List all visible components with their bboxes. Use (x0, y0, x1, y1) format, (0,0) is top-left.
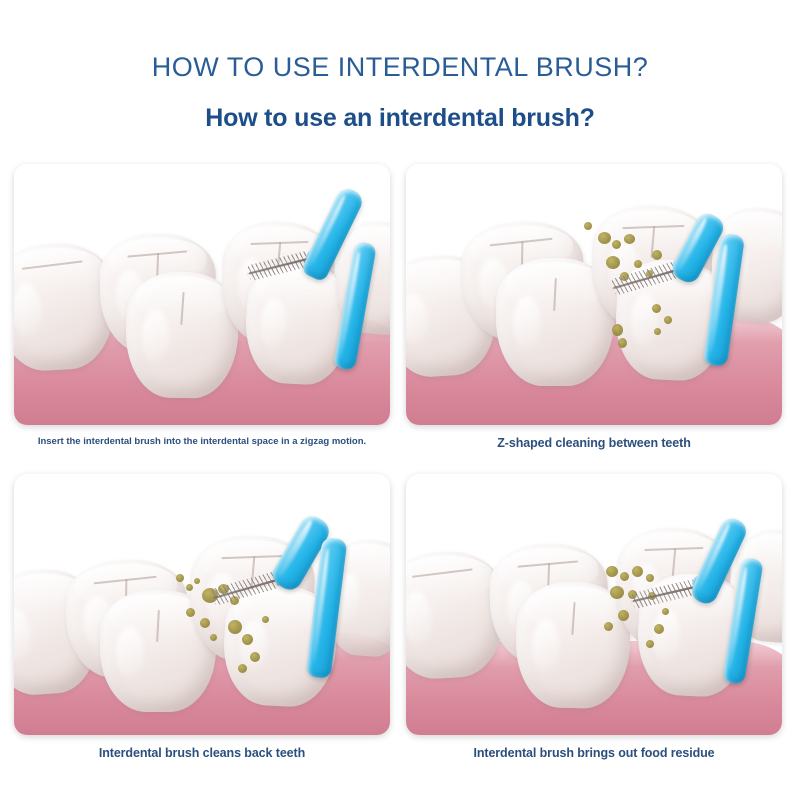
food-residue (646, 640, 654, 648)
step-caption-2: Z-shaped cleaning between teeth (406, 436, 782, 450)
illustration-panel-2[interactable] (406, 164, 782, 425)
molar-tooth (515, 581, 631, 709)
food-residue (634, 260, 642, 268)
step-cell-2: Z-shaped cleaning between teeth (406, 164, 782, 425)
tooth-highlight (259, 298, 287, 350)
illustration-panel-4[interactable] (406, 474, 782, 735)
food-residue (632, 566, 643, 577)
step-cell-4: Interdental brush brings out food residu… (406, 474, 782, 735)
food-residue (210, 634, 217, 641)
food-residue (238, 664, 247, 673)
food-residue (176, 574, 184, 582)
food-residue (652, 250, 662, 260)
dental-scene-2 (406, 164, 782, 425)
food-residue (624, 234, 635, 244)
tooth-highlight (141, 309, 169, 362)
step-caption-1: Insert the interdental brush into the in… (14, 436, 390, 447)
tooth-highlight (513, 296, 541, 350)
step-cell-3: Interdental brush cleans back teeth (14, 474, 390, 735)
step-caption-4: Interdental brush brings out food residu… (406, 746, 782, 760)
food-residue (604, 622, 613, 631)
step-caption-3: Interdental brush cleans back teeth (14, 746, 390, 760)
tooth-highlight (630, 294, 659, 346)
tooth-highlight (116, 627, 144, 678)
food-residue (262, 616, 269, 623)
food-residue (228, 620, 242, 634)
food-residue (662, 608, 669, 615)
tooth-highlight (652, 609, 681, 662)
food-residue (652, 304, 661, 313)
illustration-panel-1[interactable] (14, 164, 390, 425)
dental-scene-3 (14, 474, 390, 735)
food-residue (186, 608, 195, 617)
tooth-highlight (531, 619, 559, 672)
food-residue (620, 572, 629, 581)
food-residue (606, 566, 618, 577)
food-residue (664, 316, 672, 324)
dental-scene-4 (406, 474, 782, 735)
food-residue (618, 610, 629, 621)
food-residue (186, 584, 193, 591)
food-residue (606, 256, 620, 269)
page-subtitle: How to use an interdental brush? (0, 104, 800, 133)
food-residue (250, 652, 260, 662)
food-residue (654, 328, 661, 335)
dental-scene-1 (14, 164, 390, 425)
food-residue (200, 618, 210, 628)
handle-highlight (311, 549, 330, 664)
step-cell-1: Insert the interdental brush into the in… (14, 164, 390, 425)
food-residue (194, 578, 200, 584)
food-residue (242, 634, 253, 645)
infographic-page: HOW TO USE INTERDENTAL BRUSH? How to use… (0, 0, 800, 800)
food-residue (584, 222, 592, 230)
food-residue (646, 574, 654, 582)
food-residue (612, 324, 623, 336)
page-title: HOW TO USE INTERDENTAL BRUSH? (0, 52, 800, 83)
illustration-panel-3[interactable] (14, 474, 390, 735)
food-residue (618, 338, 627, 348)
food-residue (610, 586, 624, 599)
food-residue (598, 232, 611, 244)
food-residue (654, 624, 664, 634)
food-residue (612, 240, 621, 249)
